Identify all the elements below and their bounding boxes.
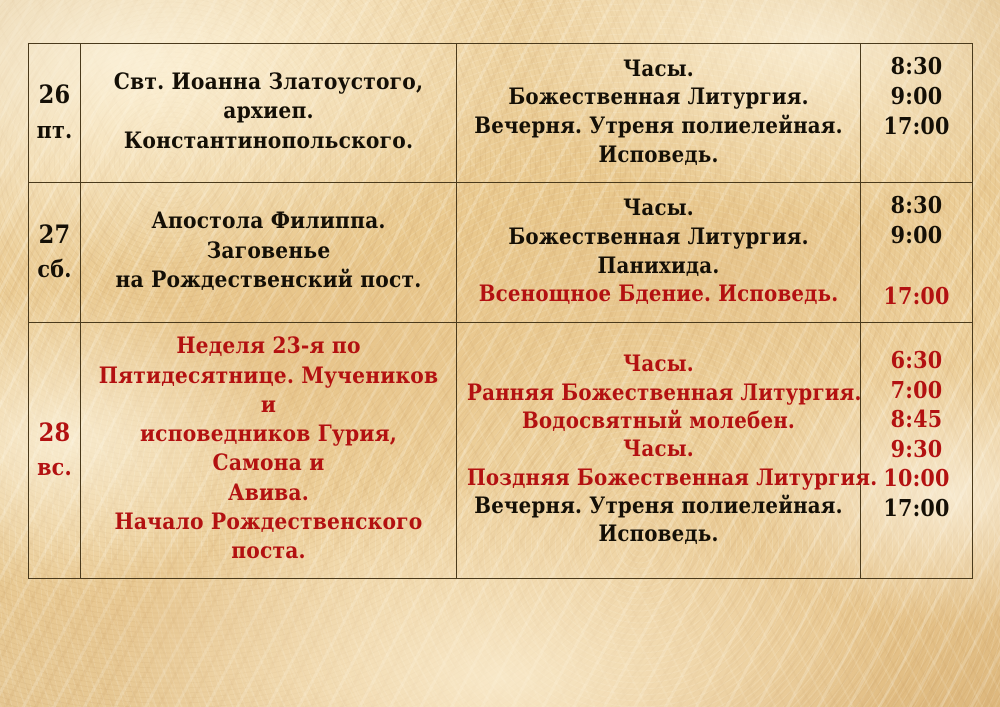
services-cell: Часы.Божественная Литургия.Вечерня. Утре…	[457, 44, 861, 183]
schedule-row: 26пт.Свт. Иоанна Златоустого,архиеп.Конс…	[29, 44, 973, 183]
time-cell: 8:309:00 17:00	[861, 183, 973, 322]
service-line: Часы.	[467, 350, 850, 378]
service-line: Божественная Литургия.	[467, 223, 850, 252]
commemoration-cell: Неделя 23-я поПятидесятнице. Мучеников и…	[81, 322, 457, 578]
service-line: Исповедь.	[467, 141, 850, 170]
commemoration-line: исповедников Гурия, Самона и	[95, 420, 442, 479]
service-time: 6:30	[865, 346, 968, 376]
schedule-row: 28вс.Неделя 23-я поПятидесятнице. Мучени…	[29, 322, 973, 578]
service-line: Часы.	[467, 194, 850, 223]
commemoration-line: архиеп.	[95, 97, 442, 126]
service-time: 9:30	[865, 435, 968, 465]
service-line: Часы.	[467, 55, 850, 84]
service-time: 8:30	[865, 52, 968, 82]
service-schedule-table: 26пт.Свт. Иоанна Златоустого,архиеп.Конс…	[28, 43, 973, 579]
schedule-row: 27сб.Апостола Филиппа. Заговеньена Рожде…	[29, 183, 973, 322]
commemoration-line: Авива.	[95, 479, 442, 508]
day-abbreviation: вс.	[33, 451, 76, 484]
service-time: 9:00	[865, 221, 968, 251]
service-time: 17:00	[865, 282, 968, 312]
service-line: Вечерня. Утреня полиелейная.	[467, 112, 850, 141]
service-time: 8:45	[865, 405, 968, 435]
services-cell: Часы.Ранняя Божественная Литургия.Водосв…	[457, 322, 861, 578]
commemoration-line: на Рождественский пост.	[95, 266, 442, 295]
day-abbreviation: сб.	[33, 253, 76, 286]
day-cell: 26пт.	[29, 44, 81, 183]
service-time: 17:00	[865, 494, 968, 524]
commemoration-line: поста.	[95, 537, 442, 566]
time-cell: 6:307:008:459:3010:0017:00	[861, 322, 973, 578]
commemoration-cell: Апостола Филиппа. Заговеньена Рождествен…	[81, 183, 457, 322]
service-line: Божественная Литургия.	[467, 83, 850, 112]
service-time	[865, 252, 968, 282]
service-time: 7:00	[865, 376, 968, 406]
commemoration-line: Свт. Иоанна Златоустого,	[95, 68, 442, 97]
service-line: Исповедь.	[467, 520, 850, 548]
service-line: Водосвятный молебен.	[467, 407, 850, 435]
commemoration-line: Пятидесятнице. Мучеников и	[95, 362, 442, 421]
commemoration-line: Неделя 23-я по	[95, 332, 442, 361]
service-time	[865, 523, 968, 553]
day-cell: 27сб.	[29, 183, 81, 322]
day-number: 26	[33, 77, 76, 113]
service-line: Ранняя Божественная Литургия.	[467, 379, 850, 407]
services-cell: Часы.Божественная Литургия.Панихида.Всен…	[457, 183, 861, 322]
service-time: 17:00	[865, 112, 968, 142]
day-number: 27	[33, 217, 76, 253]
day-cell: 28вс.	[29, 322, 81, 578]
commemoration-line: Апостола Филиппа. Заговенье	[95, 207, 442, 266]
service-time: 10:00	[865, 464, 968, 494]
time-cell: 8:309:0017:00	[861, 44, 973, 183]
service-line: Часы.	[467, 435, 850, 463]
service-line: Вечерня. Утреня полиелейная.	[467, 492, 850, 520]
commemoration-cell: Свт. Иоанна Златоустого,архиеп.Константи…	[81, 44, 457, 183]
service-time	[865, 142, 968, 172]
service-line: Панихида.	[467, 252, 850, 281]
commemoration-line: Начало Рождественского	[95, 508, 442, 537]
commemoration-line: Константинопольского.	[95, 127, 442, 156]
day-abbreviation: пт.	[33, 114, 76, 147]
service-time: 8:30	[865, 191, 968, 221]
service-line: Поздняя Божественная Литургия.	[467, 464, 850, 492]
service-line: Всенощное Бдение. Исповедь.	[467, 280, 850, 309]
day-number: 28	[33, 415, 76, 451]
service-time: 9:00	[865, 82, 968, 112]
schedule-body: 26пт.Свт. Иоанна Златоустого,архиеп.Конс…	[29, 44, 973, 579]
